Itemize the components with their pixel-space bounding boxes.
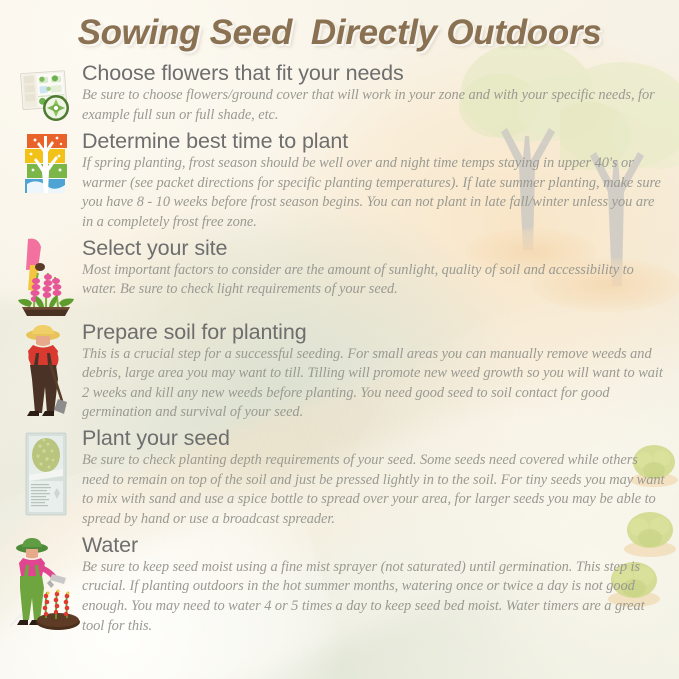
step-heading: Prepare soil for planting: [82, 321, 665, 344]
step-icon-wrapper: [10, 427, 82, 517]
step-body: Determine best time to plant If spring p…: [82, 130, 671, 233]
step-prepare-soil: Prepare soil for planting This is a cruc…: [0, 321, 679, 424]
page-title: Sowing Seed Directly Outdoors: [0, 13, 679, 53]
step-text: Be sure to check planting depth requirem…: [82, 451, 665, 529]
step-determine-time: Determine best time to plant If spring p…: [0, 130, 679, 233]
flower-planter-icon: [16, 237, 76, 317]
step-icon-wrapper: [10, 62, 82, 126]
step-heading: Water: [82, 534, 665, 557]
step-water: Water Be sure to keep seed moist using a…: [0, 534, 679, 637]
gardener-with-shovel-icon: [16, 323, 76, 419]
step-text: If spring planting, frost season should …: [82, 154, 665, 232]
step-choose-flowers: Choose flowers that fit your needs Be su…: [0, 62, 679, 126]
step-heading: Select your site: [82, 237, 665, 260]
infographic-poster: Sowing Seed Directly Outdoors: [0, 0, 679, 679]
seed-packet-icon: [18, 431, 74, 517]
step-heading: Determine best time to plant: [82, 130, 665, 153]
step-heading: Plant your seed: [82, 427, 665, 450]
step-icon-wrapper: [10, 237, 82, 317]
step-icon-wrapper: [10, 321, 82, 419]
step-heading: Choose flowers that fit your needs: [82, 62, 665, 85]
step-text: This is a crucial step for a successful …: [82, 345, 665, 423]
step-icon-wrapper: [10, 130, 82, 198]
step-body: Select your site Most important factors …: [82, 237, 671, 300]
step-text: Most important factors to consider are t…: [82, 261, 665, 300]
gardener-watering-icon: [10, 536, 82, 632]
step-select-site: Select your site Most important factors …: [0, 237, 679, 317]
garden-plan-map-icon: [16, 66, 76, 126]
step-body: Water Be sure to keep seed moist using a…: [82, 534, 671, 637]
step-body: Choose flowers that fit your needs Be su…: [82, 62, 671, 125]
steps-list: Choose flowers that fit your needs Be su…: [0, 62, 679, 636]
step-body: Prepare soil for planting This is a cruc…: [82, 321, 671, 424]
step-text: Be sure to keep seed moist using a fine …: [82, 558, 665, 636]
four-seasons-tree-icon: [19, 132, 73, 198]
step-text: Be sure to choose flowers/ground cover t…: [82, 86, 665, 125]
step-icon-wrapper: [10, 534, 82, 632]
step-plant-seed: Plant your seed Be sure to check plantin…: [0, 427, 679, 530]
step-body: Plant your seed Be sure to check plantin…: [82, 427, 671, 530]
